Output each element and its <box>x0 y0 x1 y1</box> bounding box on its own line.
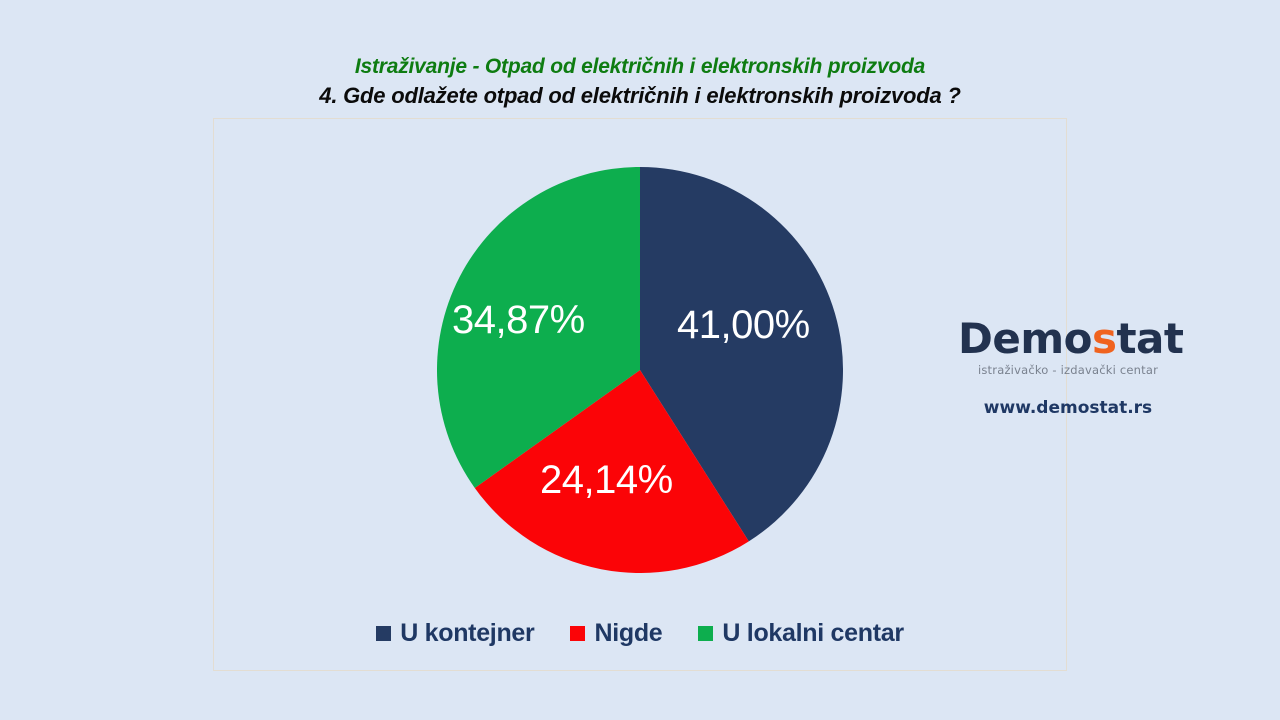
demostat-website-url[interactable]: www.demostat.rs <box>958 397 1178 419</box>
legend-label: U lokalni centar <box>722 620 903 647</box>
demostat-tagline: istraživačko - izdavački centar <box>958 363 1178 378</box>
logo-text-part1: Demo <box>958 314 1092 363</box>
legend-swatch-icon <box>570 626 585 641</box>
demostat-branding: Demostat istraživačko - izdavački centar… <box>958 316 1178 419</box>
survey-title: Istraživanje - Otpad od električnih i el… <box>0 54 1280 80</box>
pie-chart: 41,00% 24,14% 34,87% <box>437 167 843 573</box>
legend-item-u-kontejner[interactable]: U kontejner <box>376 620 534 647</box>
legend-swatch-icon <box>376 626 391 641</box>
legend-item-u-lokalni-centar[interactable]: U lokalni centar <box>698 620 903 647</box>
pie-label-u-kontejner: 41,00% <box>677 305 810 345</box>
pie-chart-svg <box>437 167 843 573</box>
logo-text-accent: s <box>1092 314 1117 363</box>
chart-legend: U kontejner Nigde U lokalni centar <box>213 620 1067 647</box>
legend-label: Nigde <box>594 620 662 647</box>
logo-text-part2: tat <box>1116 314 1183 363</box>
legend-label: U kontejner <box>400 620 534 647</box>
pie-label-nigde: 24,14% <box>540 460 673 500</box>
legend-item-nigde[interactable]: Nigde <box>570 620 662 647</box>
question-title: 4. Gde odlažete otpad od električnih i e… <box>0 82 1280 110</box>
chart-titles: Istraživanje - Otpad od električnih i el… <box>0 54 1280 110</box>
legend-swatch-icon <box>698 626 713 641</box>
pie-label-u-lokalni-centar: 34,87% <box>452 300 585 340</box>
demostat-logo: Demostat <box>958 316 1178 362</box>
